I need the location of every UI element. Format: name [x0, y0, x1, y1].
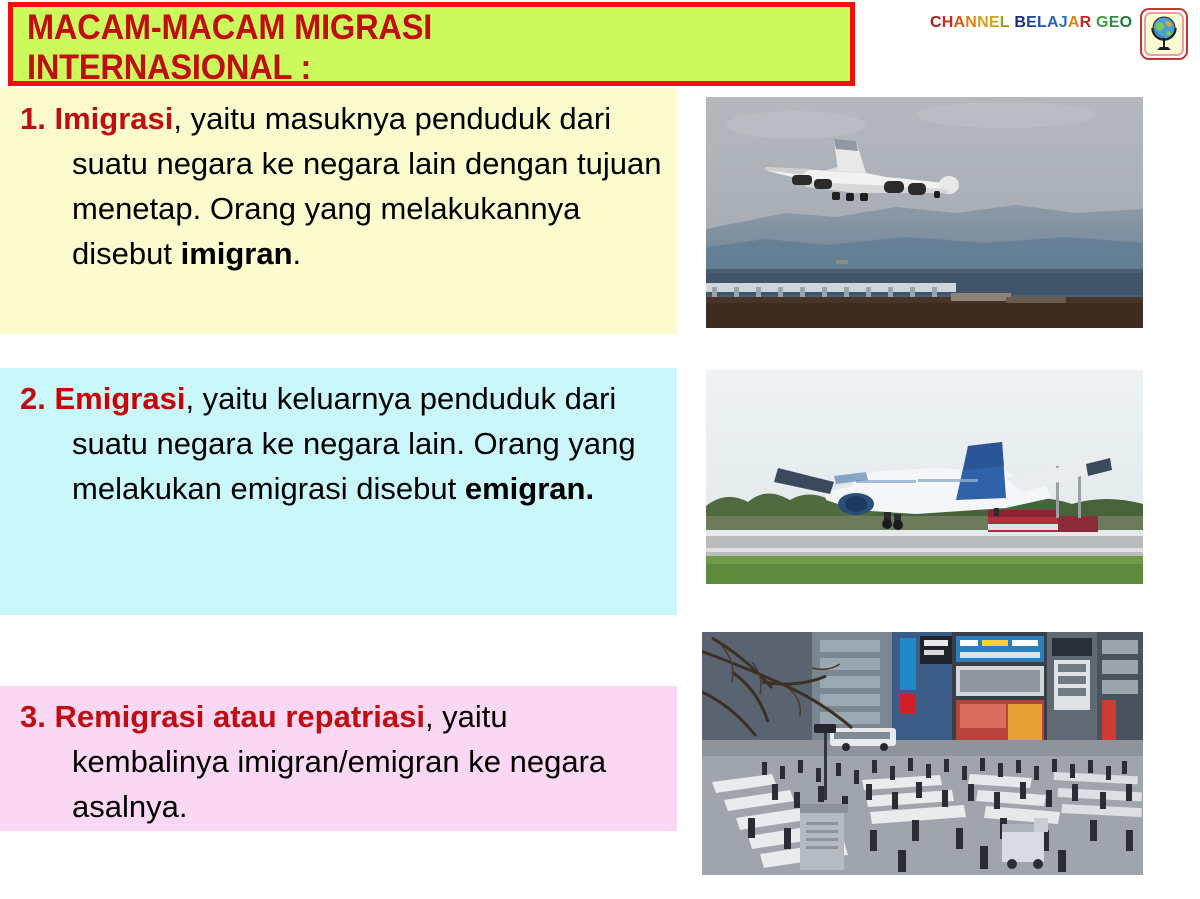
migration-item-1: 1. Imigrasi, yaitu masuknya penduduk dar…: [0, 88, 677, 334]
brand-text: CHANNEL BELAJAR GEO: [930, 14, 1132, 32]
brand-letter-1: H: [942, 14, 954, 31]
brand-letter-10: L: [1037, 14, 1047, 31]
brand-letter-3: N: [965, 14, 977, 31]
crowded-street-crossing-illustration: [702, 632, 1143, 875]
brand-letter-16: G: [1096, 14, 1109, 31]
item-1-emphasis: imigran: [181, 236, 293, 271]
brand-letter-14: R: [1080, 14, 1092, 31]
migration-item-3: 3. Remigrasi atau repatriasi, yaitu kemb…: [0, 686, 677, 831]
brand-letter-0: C: [930, 14, 942, 31]
item-1-term-suffix: , yaitu masuknya: [173, 101, 406, 136]
brand-letter-11: A: [1047, 14, 1059, 31]
globe-icon: [1144, 12, 1184, 56]
item-1-term: Imigrasi: [54, 101, 173, 136]
migration-item-1-text: 1. Imigrasi, yaitu masuknya penduduk dar…: [10, 96, 667, 276]
airplane-takeoff-illustration: [706, 370, 1143, 584]
migration-item-3-text: 3. Remigrasi atau repatriasi, yaitu kemb…: [10, 694, 667, 829]
item-3-body: kembalinya imigran/emigran ke negara asa…: [72, 744, 606, 824]
item-3-term: Remigrasi atau repatriasi: [54, 699, 424, 734]
airplane-landing-photo: [706, 97, 1143, 328]
brand-letter-5: E: [989, 14, 1000, 31]
item-1-number: 1.: [20, 101, 46, 136]
item-2-emphasis: emigran.: [465, 471, 594, 506]
item-2-term: Emigrasi: [54, 381, 185, 416]
brand-letter-12: J: [1059, 14, 1068, 31]
crowded-street-crossing-photo: [702, 632, 1143, 875]
item-3-number: 3.: [20, 699, 46, 734]
slide-title-box: MACAM-MACAM MIGRASI INTERNASIONAL :: [8, 2, 855, 86]
brand-letter-2: A: [954, 14, 966, 31]
brand-letter-18: O: [1120, 14, 1133, 31]
globe-badge: [1140, 8, 1188, 60]
item-2-number: 2.: [20, 381, 46, 416]
brand-letter-17: E: [1109, 14, 1120, 31]
brand-letter-6: L: [1000, 14, 1010, 31]
brand-letter-13: A: [1068, 14, 1080, 31]
migration-item-2: 2. Emigrasi, yaitu keluarnya penduduk da…: [0, 368, 677, 615]
brand-letter-8: B: [1014, 14, 1026, 31]
airplane-takeoff-photo: [706, 370, 1143, 584]
page-title-line-2: INTERNASIONAL :: [27, 48, 792, 88]
brand-watermark: CHANNEL BELAJAR GEO: [930, 10, 1192, 68]
globe-icon-svg: [1149, 15, 1179, 53]
item-1-body-after: .: [293, 236, 302, 271]
page-title-line-1: MACAM-MACAM MIGRASI: [27, 8, 792, 48]
item-3-term-suffix: , yaitu: [425, 699, 508, 734]
brand-letter-9: E: [1026, 14, 1037, 31]
item-2-term-suffix: , yaitu keluarnya: [185, 381, 411, 416]
migration-item-2-text: 2. Emigrasi, yaitu keluarnya penduduk da…: [10, 376, 667, 511]
airplane-landing-illustration: [706, 97, 1143, 328]
brand-letter-4: N: [977, 14, 989, 31]
